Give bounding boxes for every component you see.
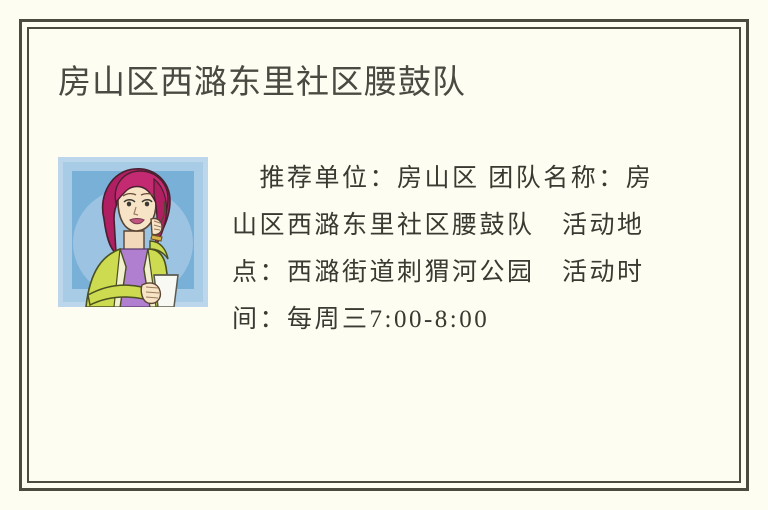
article-content: 房山区西潞东里社区腰鼓队 bbox=[27, 27, 741, 483]
woman-with-cup-icon bbox=[58, 157, 208, 307]
page-title: 房山区西潞东里社区腰鼓队 bbox=[58, 60, 466, 104]
article-page: 房山区西潞东里社区腰鼓队 bbox=[0, 0, 768, 510]
article-illustration bbox=[58, 157, 208, 307]
article-body-text: 推荐单位：房山区 团队名称：房山区西潞东里社区腰鼓队 活动地点：西潞街道刺猬河公… bbox=[232, 155, 662, 343]
